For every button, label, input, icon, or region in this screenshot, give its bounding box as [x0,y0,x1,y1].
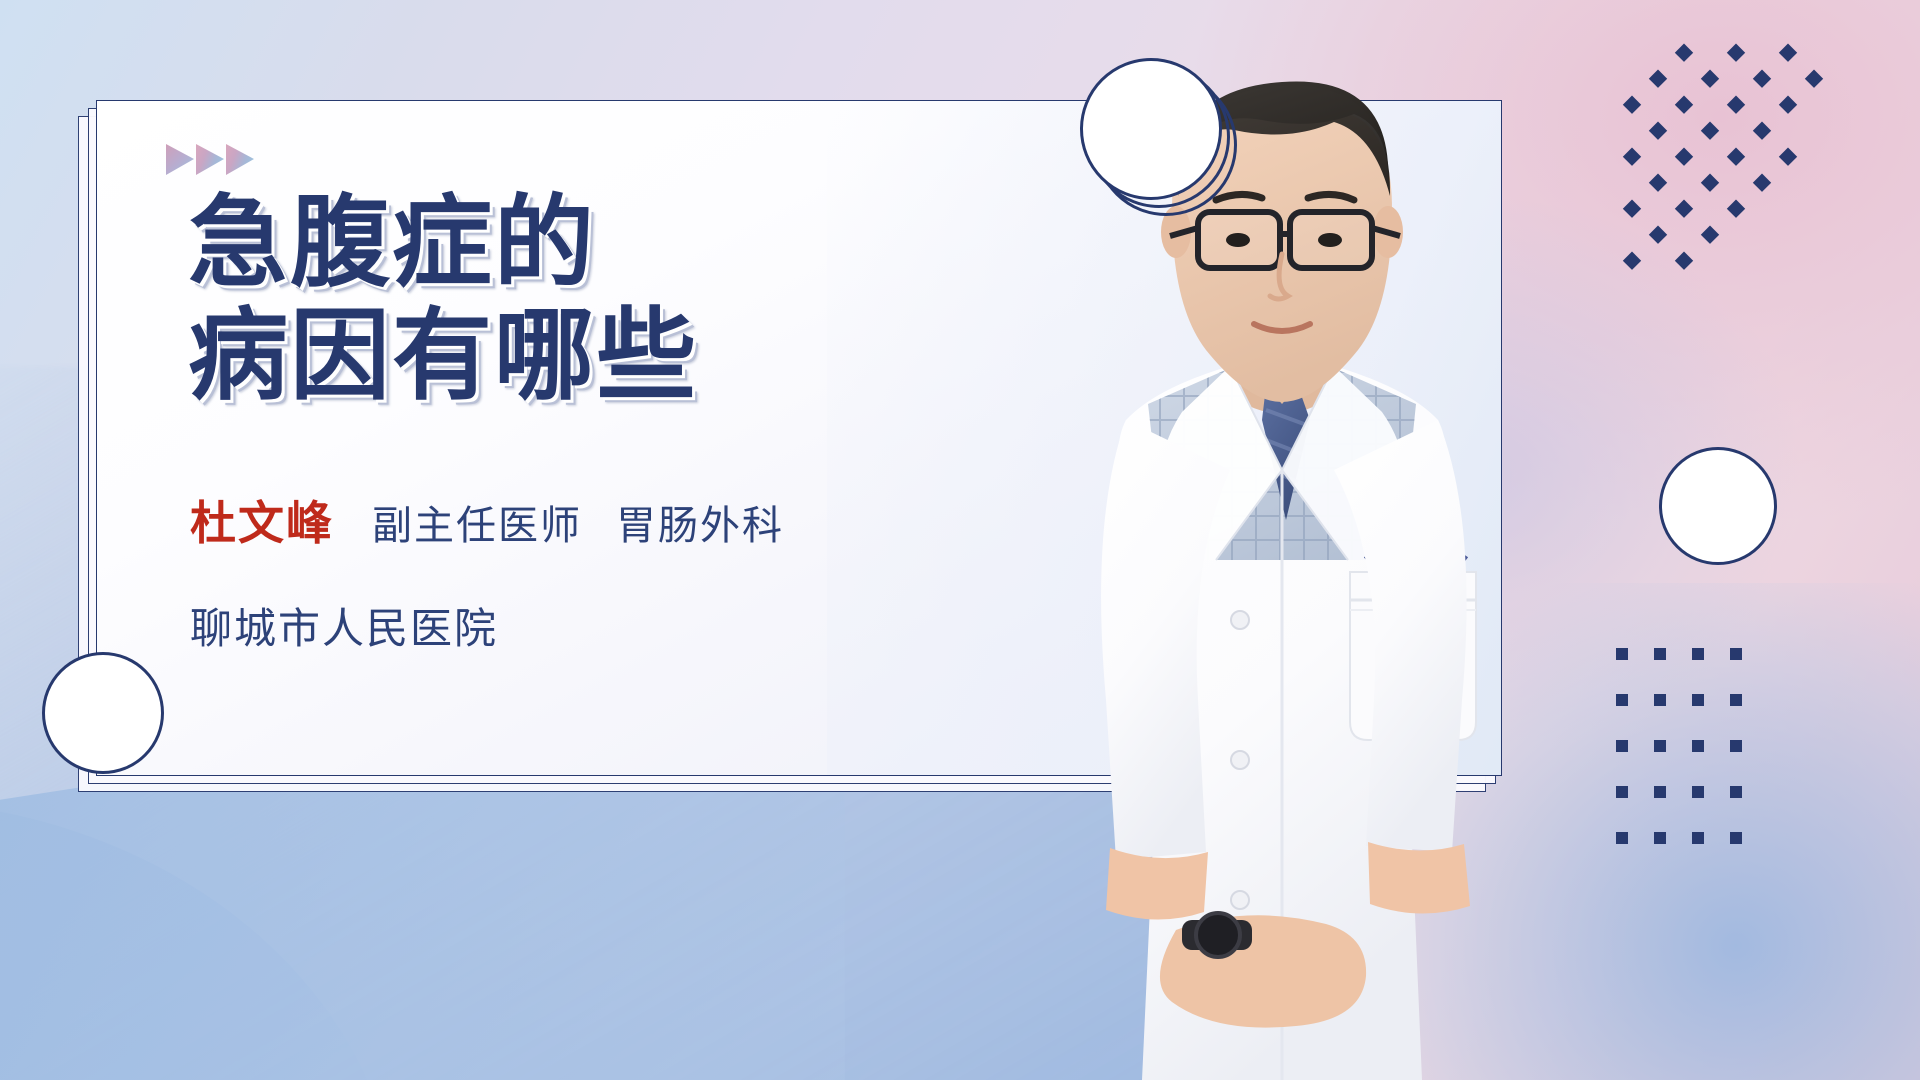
title-line-2: 病因有哪些 [188,299,698,412]
doctor-portrait: 0682 [930,0,1650,1080]
doctor-department: 胃肠外科 [616,493,784,551]
arrow-marker-icon-3 [226,144,254,175]
portrait-forearm-left [1106,848,1208,920]
portrait-eye-right [1318,233,1342,247]
arrow-marker-group [160,138,350,182]
hospital-name: 聊城市人民医院 [190,595,498,656]
doctor-credentials-row: 杜文峰 副主任医师 胃肠外科 [190,487,784,553]
arrow-marker-icon-2 [196,144,224,175]
decor-circle-right-edge [1659,447,1777,565]
doctor-name: 杜文峰 [190,487,334,553]
portrait-forearm-right [1368,842,1470,914]
title-card-stage: 急腹症的 病因有哪些 杜文峰 副主任医师 胃肠外科 聊城市人民医院 [0,0,1920,1080]
decor-circle-stack-front [1080,58,1222,200]
arrow-marker-icon-1 [166,144,194,175]
decor-diamond-dot-grid [1608,14,1908,304]
decor-circle-bottom-left [42,652,164,774]
doctor-job-title: 副主任医师 [372,493,582,551]
decor-square-dot-grid [1596,630,1896,880]
title-line-1: 急腹症的 [188,186,698,299]
portrait-eye-left [1226,233,1250,247]
page-title: 急腹症的 病因有哪些 [188,186,698,412]
